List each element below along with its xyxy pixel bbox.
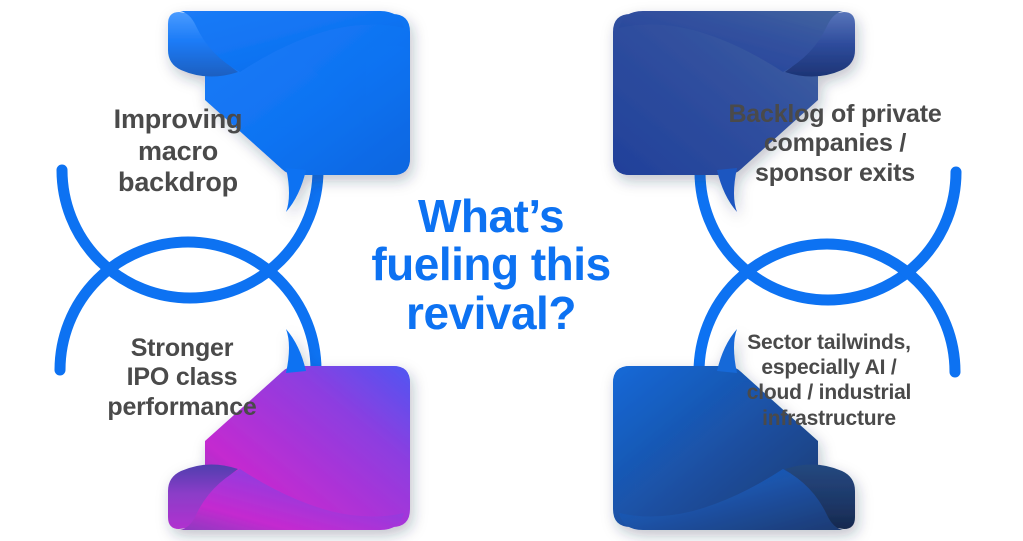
infographic-canvas: Improving macro backdrop Backlog of priv…: [0, 0, 1023, 541]
callout-bottom-right-label: Sector tailwinds, especially AI / cloud …: [716, 330, 942, 431]
callout-top-left-label: Improving macro backdrop: [58, 104, 298, 199]
callout-top-right-label: Backlog of private companies / sponsor e…: [690, 100, 980, 188]
center-title: What’s fueling this revival?: [346, 192, 636, 337]
callout-bottom-left-label: Stronger IPO class performance: [68, 334, 296, 422]
